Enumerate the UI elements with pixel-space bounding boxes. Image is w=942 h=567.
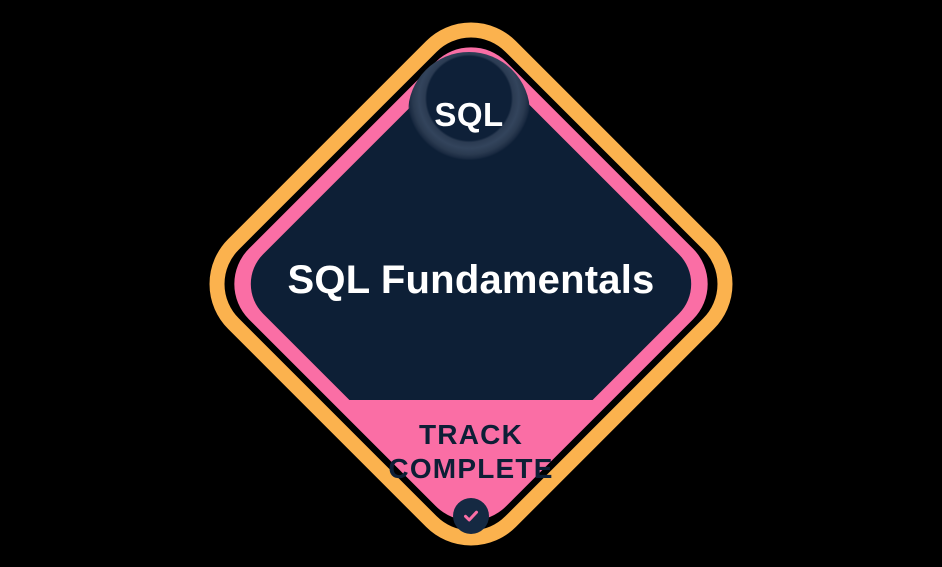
- sql-ring-icon: SQL: [408, 52, 530, 174]
- page-title: SQL Fundamentals: [0, 258, 942, 303]
- check-circle-icon: [453, 498, 489, 534]
- status-line-complete: COMPLETE: [0, 452, 942, 486]
- sql-badge-label: SQL: [434, 98, 503, 131]
- track-completion-badge: SQL SQL Fundamentals TRACK COMPLETE: [0, 0, 942, 567]
- status-line-track: TRACK: [0, 418, 942, 452]
- status-badge: TRACK COMPLETE: [0, 418, 942, 534]
